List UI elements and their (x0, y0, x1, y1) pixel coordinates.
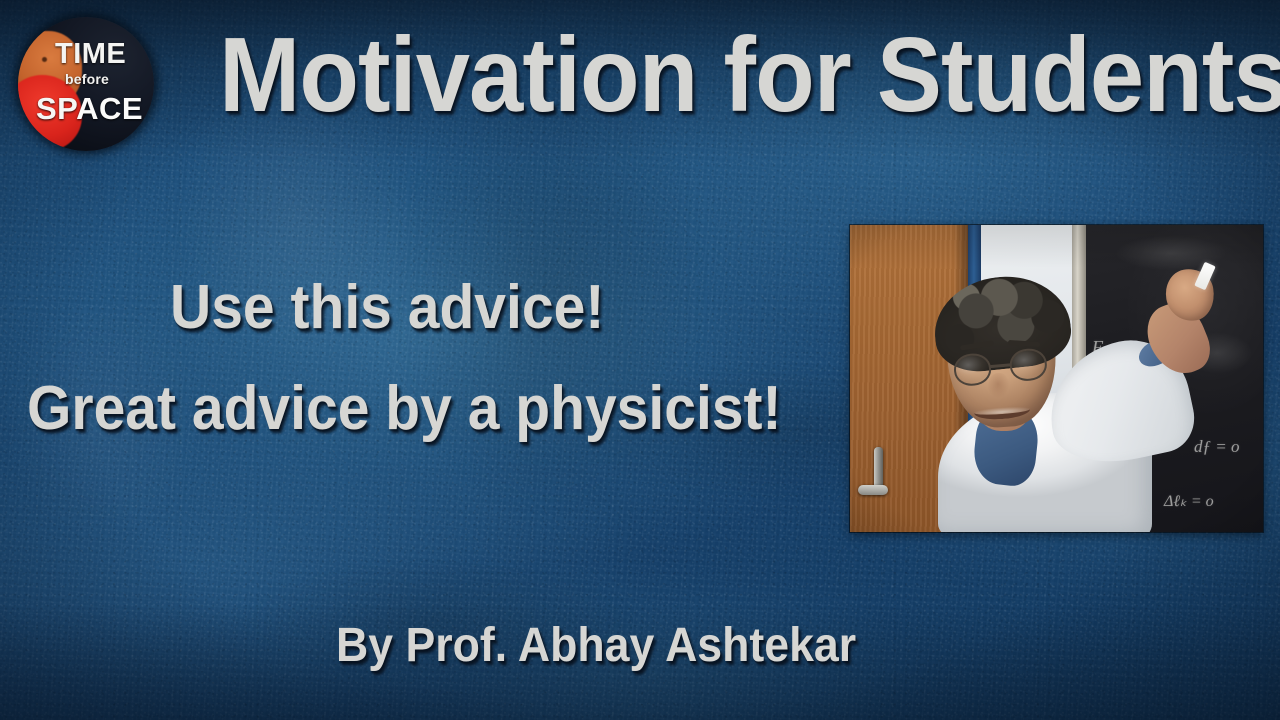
logo-line-time: TIME (55, 40, 126, 69)
professor-at-blackboard-photo: Fₐₕ ℓₐ hₐ = 0 A + t dƒ = o Δℓₖ = o (850, 225, 1263, 532)
nose (988, 373, 1010, 401)
slide-subtitle-line-1: Use this advice! (170, 277, 604, 339)
slide-subtitle-line-2: Great advice by a physicist! (27, 378, 782, 440)
slide-title: Motivation for Students (219, 22, 1280, 128)
logo-space-ace: ACE (76, 91, 143, 126)
chalk-equation: Δℓₖ = o (1164, 491, 1214, 511)
lens-right (1008, 347, 1048, 382)
slide-canvas: TIME before SPACE Motivation for Student… (0, 0, 1280, 720)
chalk-equation: dƒ = o (1194, 437, 1239, 457)
channel-logo[interactable]: TIME before SPACE (18, 17, 154, 151)
logo-space-sp: SP (36, 91, 76, 126)
slide-byline: By Prof. Abhay Ashtekar (336, 622, 856, 670)
logo-line-space: SPACE (36, 93, 143, 124)
glasses-bridge (990, 363, 1012, 368)
logo-wordmark: TIME before SPACE (18, 17, 154, 151)
lens-left (953, 352, 993, 387)
door-lock (858, 485, 888, 495)
logo-line-before: before (65, 72, 109, 86)
